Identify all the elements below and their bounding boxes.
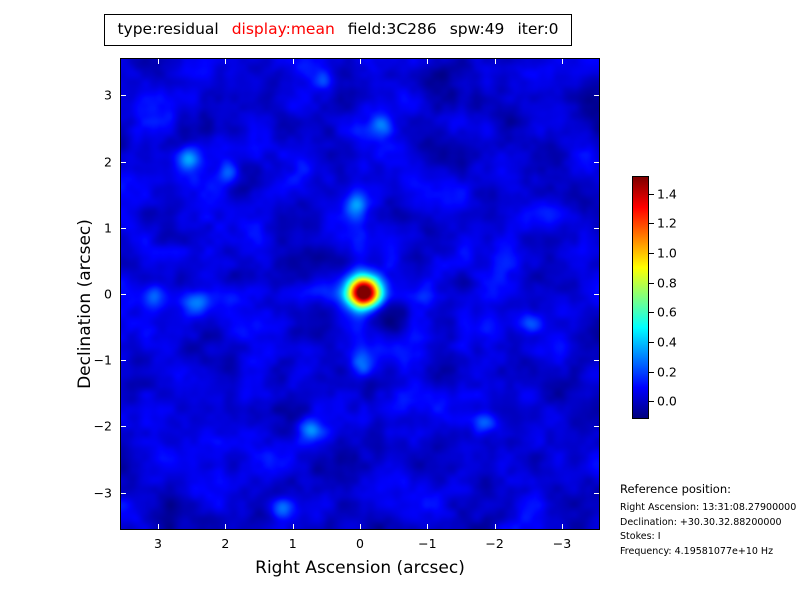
- y-tick-mark: [121, 162, 126, 163]
- x-tick-mark: [562, 59, 563, 64]
- y-tick-label: −2: [82, 419, 112, 434]
- x-tick-mark: [225, 524, 226, 529]
- x-tick-mark: [158, 59, 159, 64]
- colorbar-tick-mark: [649, 194, 654, 195]
- title-item-2: field:3C286: [348, 22, 437, 38]
- x-tick-mark: [427, 524, 428, 529]
- y-tick-mark: [594, 426, 599, 427]
- y-tick-label: 1: [82, 220, 112, 235]
- y-tick-mark: [594, 294, 599, 295]
- y-tick-mark: [121, 426, 126, 427]
- y-tick-mark: [594, 360, 599, 361]
- x-tick-mark: [158, 524, 159, 529]
- y-tick-mark: [594, 162, 599, 163]
- reference-position-right-ascension: Right Ascension: 13:31:08.27900000: [620, 501, 800, 516]
- y-axis-title: Declination (arcsec): [75, 68, 95, 540]
- y-tick-mark: [121, 294, 126, 295]
- x-tick-mark: [427, 59, 428, 64]
- x-tick-mark: [562, 524, 563, 529]
- x-tick-label: −2: [485, 536, 503, 551]
- colorbar-tick-mark: [649, 312, 654, 313]
- x-tick-mark: [293, 59, 294, 64]
- x-tick-mark: [293, 524, 294, 529]
- y-tick-mark: [121, 95, 126, 96]
- colorbar[interactable]: [632, 176, 649, 419]
- x-tick-mark: [495, 524, 496, 529]
- colorbar-tick-mark: [649, 342, 654, 343]
- x-tick-label: 1: [289, 536, 297, 551]
- y-tick-label: −3: [82, 485, 112, 500]
- colorbar-tick-mark: [649, 223, 654, 224]
- y-tick-mark: [594, 493, 599, 494]
- plot-title-bar: type:residualdisplay:meanfield:3C286spw:…: [104, 14, 572, 46]
- y-tick-label: 0: [82, 287, 112, 302]
- x-tick-label: 3: [154, 536, 162, 551]
- y-tick-mark: [121, 228, 126, 229]
- x-tick-label: −3: [553, 536, 571, 551]
- title-item-0: type:residual: [117, 22, 218, 38]
- x-tick-label: −1: [418, 536, 436, 551]
- title-item-4: iter:0: [517, 22, 558, 38]
- x-axis-title: Right Ascension (arcsec): [120, 558, 600, 578]
- y-tick-label: 3: [82, 88, 112, 103]
- y-tick-mark: [594, 228, 599, 229]
- reference-position-heading: Reference position:: [620, 482, 800, 496]
- colorbar-tick-label: 0.2: [657, 364, 677, 379]
- x-tick-mark: [495, 59, 496, 64]
- x-tick-mark: [360, 59, 361, 64]
- colorbar-tick-label: 1.0: [657, 246, 677, 261]
- colorbar-tick-mark: [649, 253, 654, 254]
- y-tick-mark: [594, 95, 599, 96]
- y-tick-label: 2: [82, 154, 112, 169]
- colorbar-tick-mark: [649, 372, 654, 373]
- x-tick-label: 2: [221, 536, 229, 551]
- colorbar-tick-label: 1.2: [657, 216, 677, 231]
- title-item-3: spw:49: [450, 22, 505, 38]
- x-tick-label: 0: [356, 536, 364, 551]
- colorbar-tick-label: 1.4: [657, 186, 677, 201]
- x-tick-mark: [225, 59, 226, 64]
- colorbar-tick-label: 0.6: [657, 305, 677, 320]
- reference-position-stokes: Stokes: I: [620, 530, 800, 545]
- colorbar-tick-label: 0.8: [657, 275, 677, 290]
- colorbar-tick-mark: [649, 401, 654, 402]
- title-item-1: display:mean: [232, 22, 335, 38]
- y-tick-mark: [121, 493, 126, 494]
- residual-image-plot[interactable]: [120, 58, 600, 530]
- colorbar-tick-label: 0.4: [657, 334, 677, 349]
- colorbar-tick-label: 0.0: [657, 394, 677, 409]
- reference-position-block: Reference position: Right Ascension: 13:…: [620, 482, 800, 560]
- x-tick-mark: [360, 524, 361, 529]
- y-tick-mark: [121, 360, 126, 361]
- residual-heatmap-canvas[interactable]: [121, 59, 599, 529]
- colorbar-tick-mark: [649, 283, 654, 284]
- reference-position-frequency: Frequency: 4.19581077e+10 Hz: [620, 545, 800, 560]
- y-tick-label: −1: [82, 353, 112, 368]
- colorbar-gradient: [633, 177, 648, 418]
- reference-position-declination: Declination: +30.30.32.88200000: [620, 516, 800, 531]
